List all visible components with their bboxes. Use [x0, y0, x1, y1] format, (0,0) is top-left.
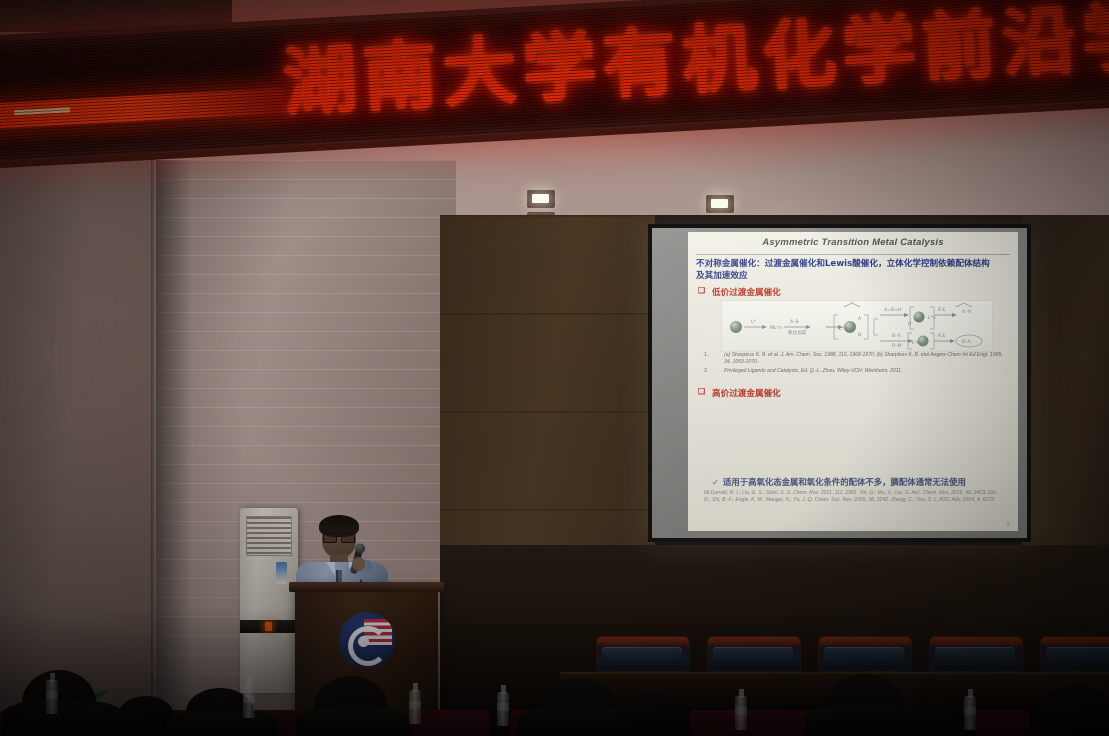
- water-bottle: [497, 692, 509, 726]
- svg-text:B: B: [858, 332, 861, 338]
- reaction-scheme-svg: L* ML*n A–B 氧化加成 L*n A B A=B=H H L*n R.E…: [722, 301, 992, 351]
- reference-text: (a) Sharpless K. B. et al. J. Am. Chem. …: [724, 352, 1009, 367]
- svg-text:ML*n: ML*n: [770, 325, 782, 331]
- podium-top-edge: [289, 582, 444, 592]
- svg-text:R.E.: R.E.: [938, 333, 947, 339]
- ac-control-panel: [276, 562, 287, 584]
- audience-shoulders: [296, 706, 410, 736]
- slide-check-statement: ✓适用于高氧化态金属和氧化条件的配体不多，膦配体通常无法使用: [712, 476, 1012, 488]
- slide-bullet-high-valent: 高价过渡金属催化: [712, 387, 781, 399]
- svg-text:X–H: X–H: [962, 309, 971, 315]
- slide-reference-list: 1. (a) Sharpless K. B. et al. J. Am. Che…: [704, 352, 1009, 376]
- led-banner-text: 湖南大学有机化学前沿学: [280, 0, 1109, 132]
- svg-text:L*n: L*n: [912, 340, 920, 346]
- led-accent-bar: [0, 88, 285, 132]
- slide-bullet-low-valent: 低价过渡金属催化: [712, 286, 781, 298]
- bullet-square-icon: ❑: [698, 387, 705, 396]
- slide-lead-text: 不对称金属催化：过渡金属催化和Lewis酸催化，立体化学控制依赖配体结构 及其加…: [696, 258, 1012, 282]
- presentation-slide: Asymmetric Transition Metal Catalysis 不对…: [688, 232, 1018, 531]
- svg-text:R–M': R–M': [892, 343, 903, 349]
- svg-text:L*n: L*n: [928, 315, 936, 321]
- reference-text: Privileged Ligands and Catalysts, Ed. Q.…: [724, 368, 1009, 375]
- shirt-collar-left: [326, 562, 335, 576]
- water-bottle: [46, 680, 58, 714]
- audience-shoulders: [166, 710, 278, 736]
- slide-lead-line1: 不对称金属催化：过渡金属催化和Lewis酸催化，立体化学控制依赖配体结构: [696, 258, 1012, 270]
- audience-shoulders: [2, 700, 124, 736]
- svg-text:L*: L*: [751, 319, 757, 325]
- reference-number: 2.: [704, 368, 708, 375]
- reaction-scheme-diagram: L* ML*n A–B 氧化加成 L*n A B A=B=H H L*n R.E…: [721, 300, 993, 352]
- lecture-hall-photo: 湖南大学有机化学前沿学 Asymmetric Transition Metal …: [0, 0, 1109, 736]
- glasses-icon: [323, 533, 355, 541]
- svg-text:A: A: [858, 316, 862, 322]
- svg-text:B–A: B–A: [962, 339, 971, 345]
- ac-vent-grille: [246, 516, 292, 556]
- slide-lead-line2: 及其加速效应: [696, 270, 1012, 282]
- audience-shoulders: [806, 704, 930, 736]
- svg-text:A=B=H: A=B=H: [884, 307, 901, 313]
- reference-entry: 2. Privileged Ligands and Catalysts, Ed.…: [704, 368, 1009, 375]
- water-bottle: [964, 696, 976, 730]
- slide-title: Asymmetric Transition Metal Catalysis: [688, 237, 1018, 248]
- water-bottle: [409, 690, 421, 724]
- audience-head: [622, 694, 684, 736]
- water-bottle: [735, 696, 747, 730]
- slide-footer-reference: McDonald, R. I.; Liu, G. S.; Stahl, S. S…: [704, 490, 1004, 505]
- ceiling-spotlight: [706, 195, 734, 213]
- slide-title-divider: [696, 254, 1010, 255]
- svg-text:L*n: L*n: [839, 326, 847, 332]
- bullet-square-icon: ❑: [698, 286, 705, 295]
- check-statement-text: 适用于高氧化态金属和氧化条件的配体不多，膦配体通常无法使用: [723, 477, 966, 487]
- ceiling-spotlight: [527, 190, 555, 208]
- check-icon: ✓: [712, 477, 719, 487]
- svg-text:A–B: A–B: [790, 319, 799, 325]
- svg-text:B–X: B–X: [892, 333, 901, 339]
- reference-number: 1.: [704, 352, 708, 359]
- reference-entry: 1. (a) Sharpless K. B. et al. J. Am. Che…: [704, 352, 1009, 367]
- audience-row: [0, 626, 1109, 736]
- projection-screen: Asymmetric Transition Metal Catalysis 不对…: [648, 224, 1031, 542]
- audience-head: [1040, 686, 1109, 736]
- speaker-hand: [352, 557, 365, 571]
- slide-page-number: 2: [1007, 522, 1010, 528]
- water-bottle: [243, 684, 255, 718]
- svg-text:氧化加成: 氧化加成: [788, 329, 807, 336]
- svg-text:R.E.: R.E.: [938, 307, 947, 313]
